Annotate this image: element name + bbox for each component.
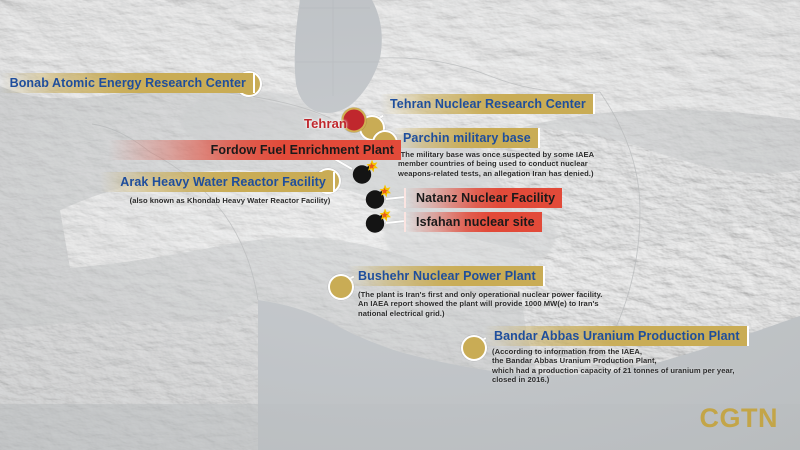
site-label-parchin-text: Parchin military base	[403, 131, 531, 145]
site-label-tehran-research[interactable]: Tehran Nuclear Research Center	[380, 94, 595, 114]
site-label-bushehr[interactable]: Bushehr Nuclear Power Plant	[348, 266, 545, 286]
site-label-bonab[interactable]: Bonab Atomic Energy Research Center	[0, 73, 255, 93]
site-note-bushehr: (The plant is Iran's first and only oper…	[358, 290, 602, 318]
map-infographic: Bonab Atomic Energy Research Center Tehr…	[0, 0, 800, 450]
site-label-bandar-abbas-text: Bandar Abbas Uranium Production Plant	[494, 329, 740, 343]
site-note-parchin: (The military base was once suspected by…	[398, 150, 594, 178]
site-label-isfahan-text: Isfahan nuclear site	[416, 215, 535, 229]
site-note-arak: (also known as Khondab Heavy Water React…	[120, 196, 340, 205]
site-label-arak-text: Arak Heavy Water Reactor Facility	[120, 175, 326, 189]
city-label-tehran: Tehran	[304, 113, 347, 133]
site-label-parchin[interactable]: Parchin military base	[393, 128, 540, 148]
site-label-bandar-abbas[interactable]: Bandar Abbas Uranium Production Plant	[484, 326, 749, 346]
city-label-tehran-text: Tehran	[304, 116, 347, 131]
site-label-fordow[interactable]: Fordow Fuel Enrichment Plant	[108, 140, 401, 160]
cgtn-logo: CGTN	[700, 403, 779, 434]
site-label-tehran-research-text: Tehran Nuclear Research Center	[390, 97, 586, 111]
bomb-marker-isfahan[interactable]	[362, 206, 392, 236]
site-label-bonab-text: Bonab Atomic Energy Research Center	[10, 76, 246, 90]
site-label-fordow-text: Fordow Fuel Enrichment Plant	[211, 143, 394, 157]
site-label-natanz-text: Natanz Nuclear Facility	[416, 191, 555, 205]
site-label-bushehr-text: Bushehr Nuclear Power Plant	[358, 269, 536, 283]
site-label-isfahan[interactable]: Isfahan nuclear site	[404, 212, 542, 232]
site-note-bandar-abbas: (According to information from the IAEA,…	[492, 347, 735, 385]
site-label-arak[interactable]: Arak Heavy Water Reactor Facility	[100, 172, 335, 192]
site-label-natanz[interactable]: Natanz Nuclear Facility	[404, 188, 562, 208]
